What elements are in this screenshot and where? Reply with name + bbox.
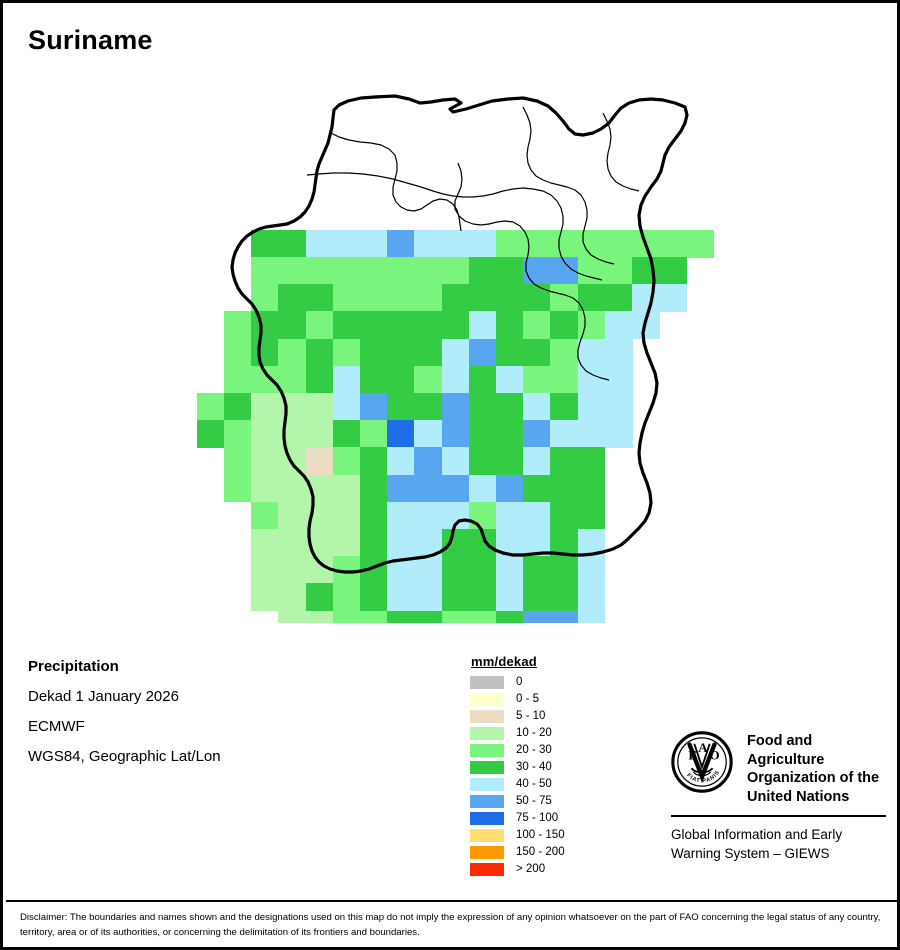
legend-label: 75 - 100 bbox=[516, 811, 558, 826]
fao-divider bbox=[671, 815, 886, 817]
legend-row: 10 - 20 bbox=[469, 725, 619, 742]
fao-logo: F A O FIAT PANIS bbox=[671, 731, 733, 793]
legend-row: 150 - 200 bbox=[469, 844, 619, 861]
info-period: Dekad 1 January 2026 bbox=[28, 688, 328, 705]
legend-row: 20 - 30 bbox=[469, 742, 619, 759]
fao-organization-name: Food and Agriculture Organization of the… bbox=[747, 731, 886, 806]
map-canvas[interactable] bbox=[3, 63, 897, 623]
legend-swatch bbox=[469, 675, 505, 690]
legend-swatch bbox=[469, 692, 505, 707]
svg-text:A: A bbox=[698, 740, 708, 755]
legend-swatch bbox=[469, 709, 505, 724]
info-variable: Precipitation bbox=[28, 658, 328, 675]
legend-label: 10 - 20 bbox=[516, 726, 552, 741]
legend-swatch bbox=[469, 777, 505, 792]
map-info-block: Precipitation Dekad 1 January 2026 ECMWF… bbox=[28, 658, 328, 778]
fao-giews-name: Global Information and Early Warning Sys… bbox=[671, 826, 886, 863]
page-title: Suriname bbox=[28, 25, 153, 56]
legend-row: > 200 bbox=[469, 861, 619, 878]
map-legend: mm/dekad 00 - 55 - 1010 - 2020 - 3030 - … bbox=[469, 654, 619, 878]
legend-label: 40 - 50 bbox=[516, 777, 552, 792]
legend-row: 75 - 100 bbox=[469, 810, 619, 827]
legend-label: 150 - 200 bbox=[516, 845, 565, 860]
page-frame: Suriname Precipitation Dekad 1 January 2… bbox=[0, 0, 900, 950]
legend-swatch bbox=[469, 845, 505, 860]
legend-swatch bbox=[469, 743, 505, 758]
legend-label: 5 - 10 bbox=[516, 709, 545, 724]
legend-label: 20 - 30 bbox=[516, 743, 552, 758]
legend-rows: 00 - 55 - 1010 - 2020 - 3030 - 4040 - 50… bbox=[469, 674, 619, 878]
disclaimer-text: Disclaimer: The boundaries and names sho… bbox=[20, 911, 886, 941]
legend-row: 0 bbox=[469, 674, 619, 691]
legend-label: > 200 bbox=[516, 862, 545, 877]
legend-row: 100 - 150 bbox=[469, 827, 619, 844]
legend-label: 30 - 40 bbox=[516, 760, 552, 775]
boundary-vector-layer bbox=[3, 63, 897, 623]
legend-label: 0 - 5 bbox=[516, 692, 539, 707]
legend-swatch bbox=[469, 828, 505, 843]
info-projection: WGS84, Geographic Lat/Lon bbox=[28, 748, 328, 765]
svg-text:O: O bbox=[709, 748, 719, 763]
legend-row: 5 - 10 bbox=[469, 708, 619, 725]
legend-label: 50 - 75 bbox=[516, 794, 552, 809]
legend-title: mm/dekad bbox=[471, 654, 619, 669]
legend-row: 30 - 40 bbox=[469, 759, 619, 776]
legend-row: 50 - 75 bbox=[469, 793, 619, 810]
legend-row: 0 - 5 bbox=[469, 691, 619, 708]
legend-label: 100 - 150 bbox=[516, 828, 565, 843]
legend-swatch bbox=[469, 726, 505, 741]
district-boundary-lines bbox=[307, 107, 639, 380]
legend-label: 0 bbox=[516, 675, 522, 690]
fao-branding-block: F A O FIAT PANIS Food and Agriculture Or… bbox=[671, 731, 886, 863]
info-source: ECMWF bbox=[28, 718, 328, 735]
svg-text:F: F bbox=[688, 748, 696, 763]
legend-swatch bbox=[469, 760, 505, 775]
legend-row: 40 - 50 bbox=[469, 776, 619, 793]
legend-swatch bbox=[469, 794, 505, 809]
legend-swatch bbox=[469, 862, 505, 877]
legend-swatch bbox=[469, 811, 505, 826]
disclaimer-bar: Disclaimer: The boundaries and names sho… bbox=[6, 900, 900, 950]
